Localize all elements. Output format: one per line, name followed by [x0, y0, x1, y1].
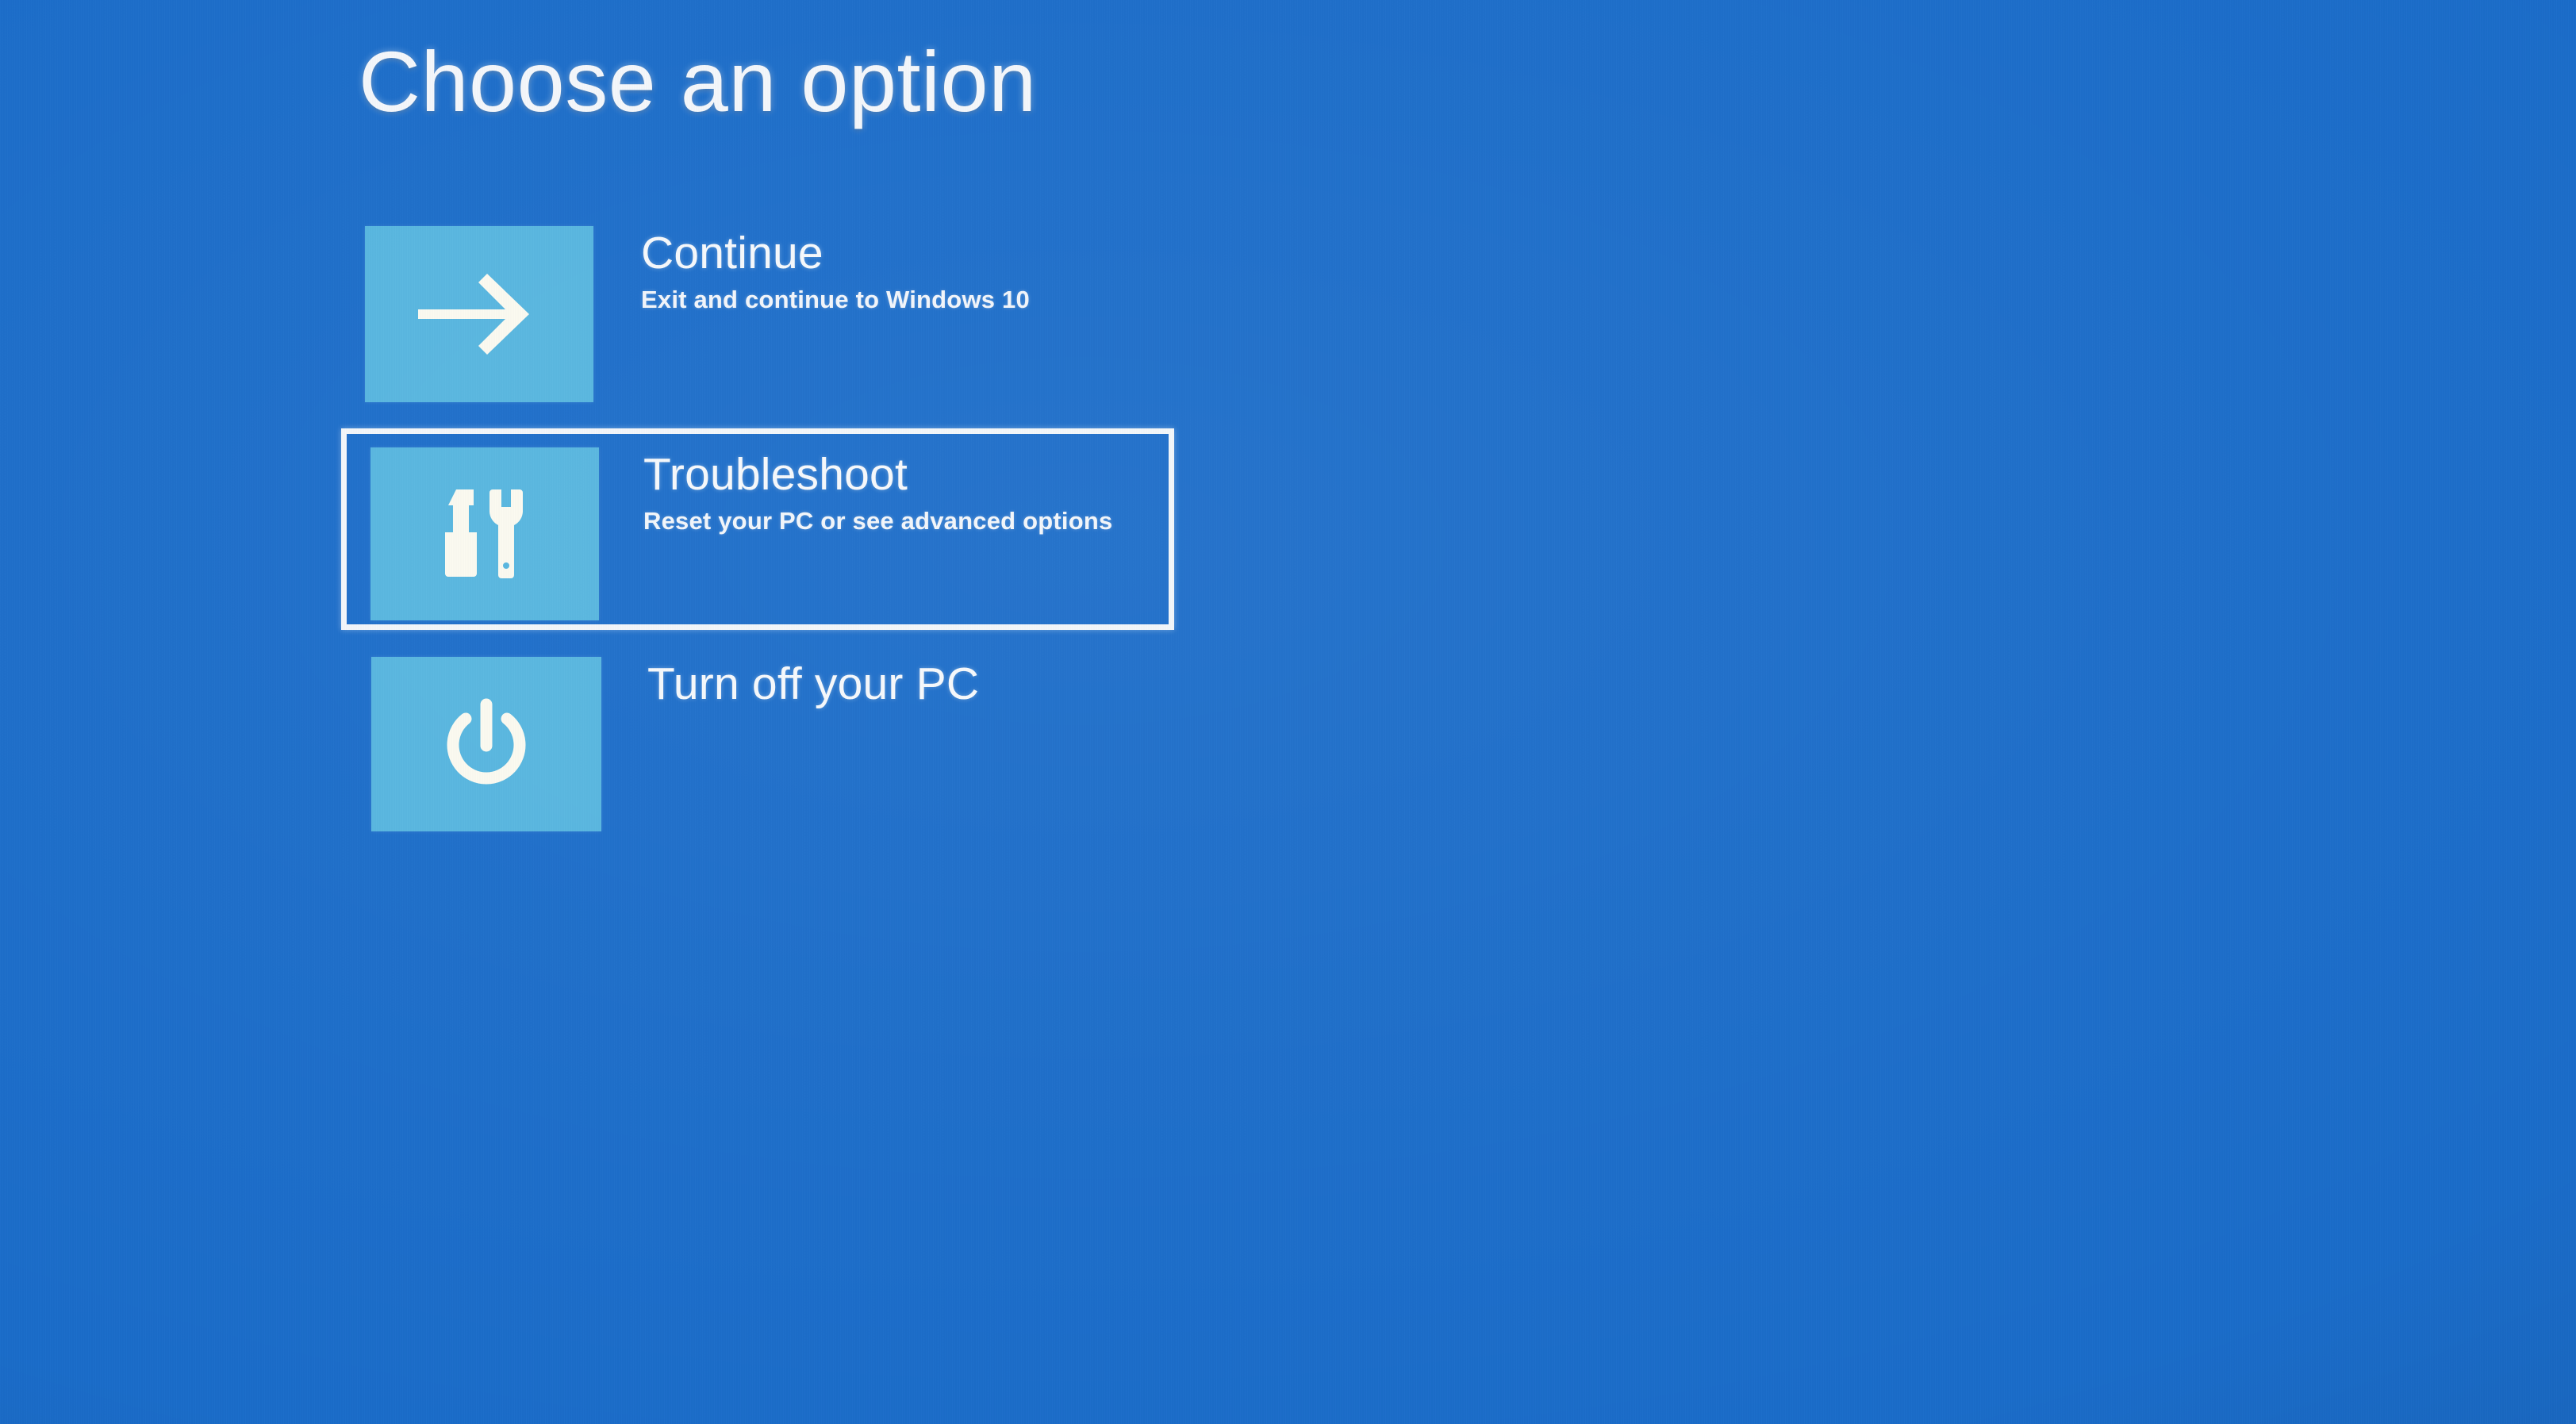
screwdriver-wrench-icon-tile: [370, 447, 599, 620]
option-shutdown-title: Turn off your PC: [647, 660, 1188, 708]
option-continue-subtitle: Exit and continue to Windows 10: [641, 286, 1182, 313]
option-troubleshoot-title: Troubleshoot: [643, 451, 1169, 498]
arrow-right-icon: [412, 267, 547, 362]
option-troubleshoot-subtitle: Reset your PC or see advanced options: [643, 508, 1169, 535]
option-troubleshoot-text: Troubleshoot Reset your PC or see advanc…: [599, 447, 1169, 535]
option-continue-title: Continue: [641, 229, 1182, 277]
option-continue-text: Continue Exit and continue to Windows 10: [593, 226, 1182, 314]
arrow-right-icon-tile: [365, 226, 593, 402]
screwdriver-wrench-icon: [429, 478, 540, 589]
option-continue[interactable]: Continue Exit and continue to Windows 10: [365, 226, 1182, 407]
option-shutdown-text: Turn off your PC: [601, 657, 1188, 708]
power-icon: [431, 689, 542, 800]
recovery-environment-screen: Choose an option Continue Exit and conti…: [0, 0, 2576, 1424]
power-icon-tile: [371, 657, 601, 831]
option-troubleshoot[interactable]: Troubleshoot Reset your PC or see advanc…: [341, 428, 1174, 630]
option-shutdown[interactable]: Turn off your PC: [371, 657, 1188, 835]
page-title: Choose an option: [359, 32, 1037, 131]
